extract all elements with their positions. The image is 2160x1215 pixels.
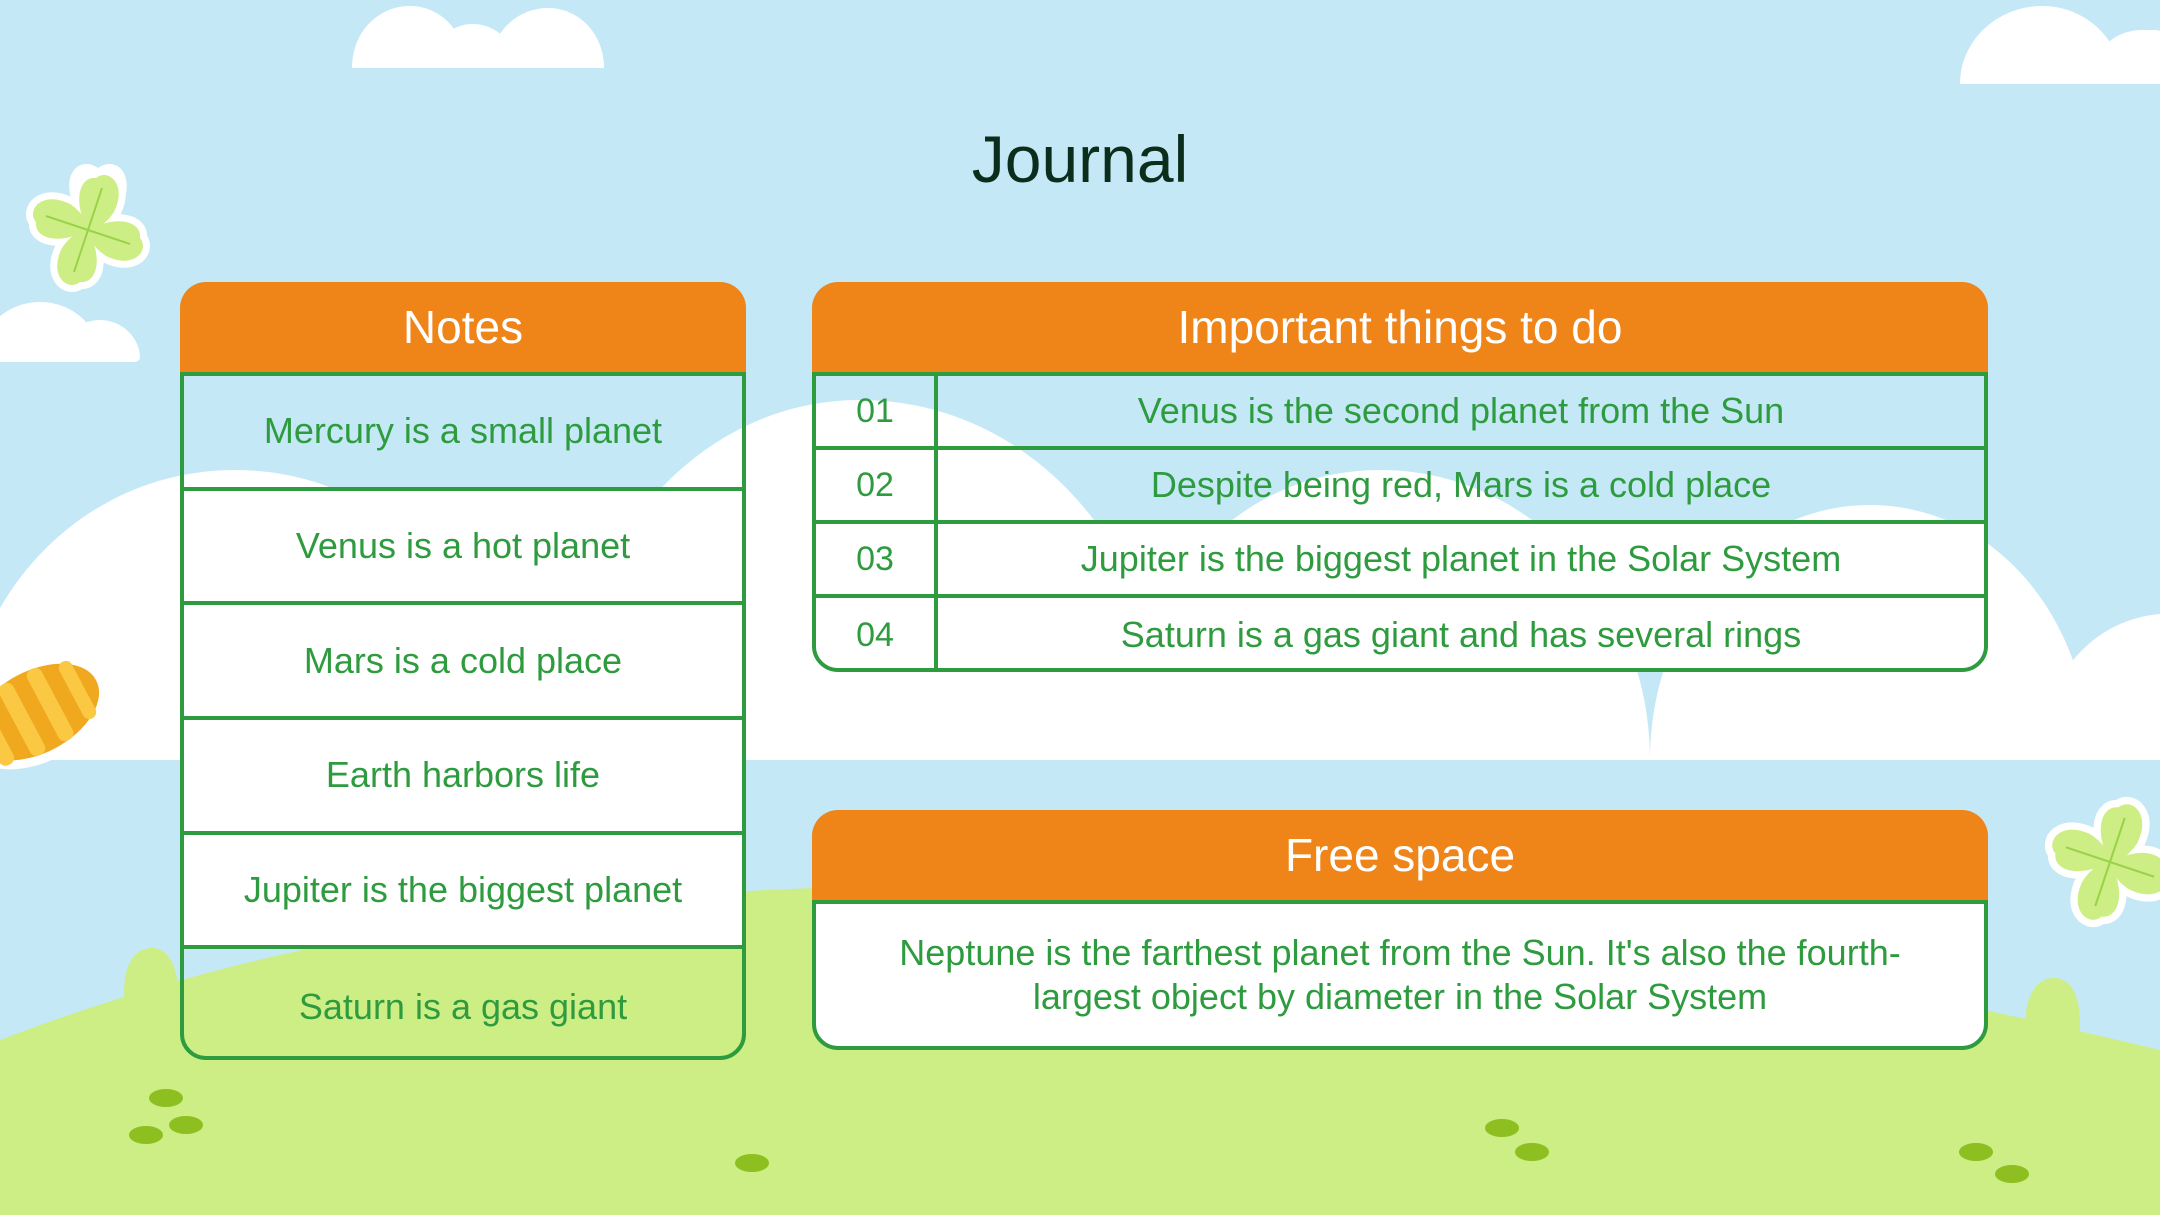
cloud-top-right — [1960, 6, 2160, 84]
note-row-label: Mars is a cold place — [304, 640, 622, 682]
note-row[interactable]: Jupiter is the biggest planet — [184, 835, 742, 950]
todo-row-label: Jupiter is the biggest planet in the Sol… — [938, 538, 1984, 580]
todo-row[interactable]: 03 Jupiter is the biggest planet in the … — [816, 524, 1984, 598]
todo-row-number: 01 — [816, 376, 938, 446]
note-row[interactable]: Earth harbors life — [184, 720, 742, 835]
todo-row-label: Saturn is a gas giant and has several ri… — [938, 614, 1984, 656]
free-space-card-body[interactable]: Neptune is the farthest planet from the … — [812, 900, 1988, 1050]
free-space-card: Free space Neptune is the farthest plane… — [812, 810, 1988, 1050]
important-things-card-header: Important things to do — [812, 282, 1988, 372]
note-row[interactable]: Saturn is a gas giant — [184, 949, 742, 1060]
todo-row-label: Despite being red, Mars is a cold place — [938, 464, 1984, 506]
important-things-card-body: 01 Venus is the second planet from the S… — [812, 372, 1988, 672]
todo-row-label: Venus is the second planet from the Sun — [938, 390, 1984, 432]
note-row[interactable]: Mercury is a small planet — [184, 376, 742, 491]
note-row-label: Earth harbors life — [326, 754, 600, 796]
todo-row[interactable]: 01 Venus is the second planet from the S… — [816, 376, 1984, 450]
todo-row-number: 03 — [816, 524, 938, 594]
todo-row[interactable]: 02 Despite being red, Mars is a cold pla… — [816, 450, 1984, 524]
notes-card-header: Notes — [180, 282, 746, 372]
notes-card: Notes Mercury is a small planet Venus is… — [180, 282, 746, 1060]
todo-row-number: 04 — [816, 598, 938, 672]
free-space-text: Neptune is the farthest planet from the … — [816, 931, 1984, 1019]
cloud-top-left — [352, 6, 604, 68]
free-space-card-header: Free space — [812, 810, 1988, 900]
note-row-label: Mercury is a small planet — [264, 410, 662, 452]
todo-row[interactable]: 04 Saturn is a gas giant and has several… — [816, 598, 1984, 672]
note-row-label: Saturn is a gas giant — [299, 986, 627, 1028]
slide-canvas: Journal Notes Mercury is a small planet … — [0, 0, 2160, 1215]
note-row[interactable]: Venus is a hot planet — [184, 491, 742, 606]
note-row-label: Venus is a hot planet — [296, 525, 630, 567]
note-row-label: Jupiter is the biggest planet — [244, 869, 682, 911]
note-row[interactable]: Mars is a cold place — [184, 605, 742, 720]
notes-card-body: Mercury is a small planet Venus is a hot… — [180, 372, 746, 1060]
grass-specks — [129, 1089, 2029, 1183]
cloud-mid-left — [0, 302, 140, 362]
pumpkin-left — [0, 631, 128, 793]
important-things-card: Important things to do 01 Venus is the s… — [812, 282, 1988, 672]
page-title: Journal — [0, 126, 2160, 192]
todo-row-number: 02 — [816, 450, 938, 520]
clover-right — [2052, 804, 2160, 919]
